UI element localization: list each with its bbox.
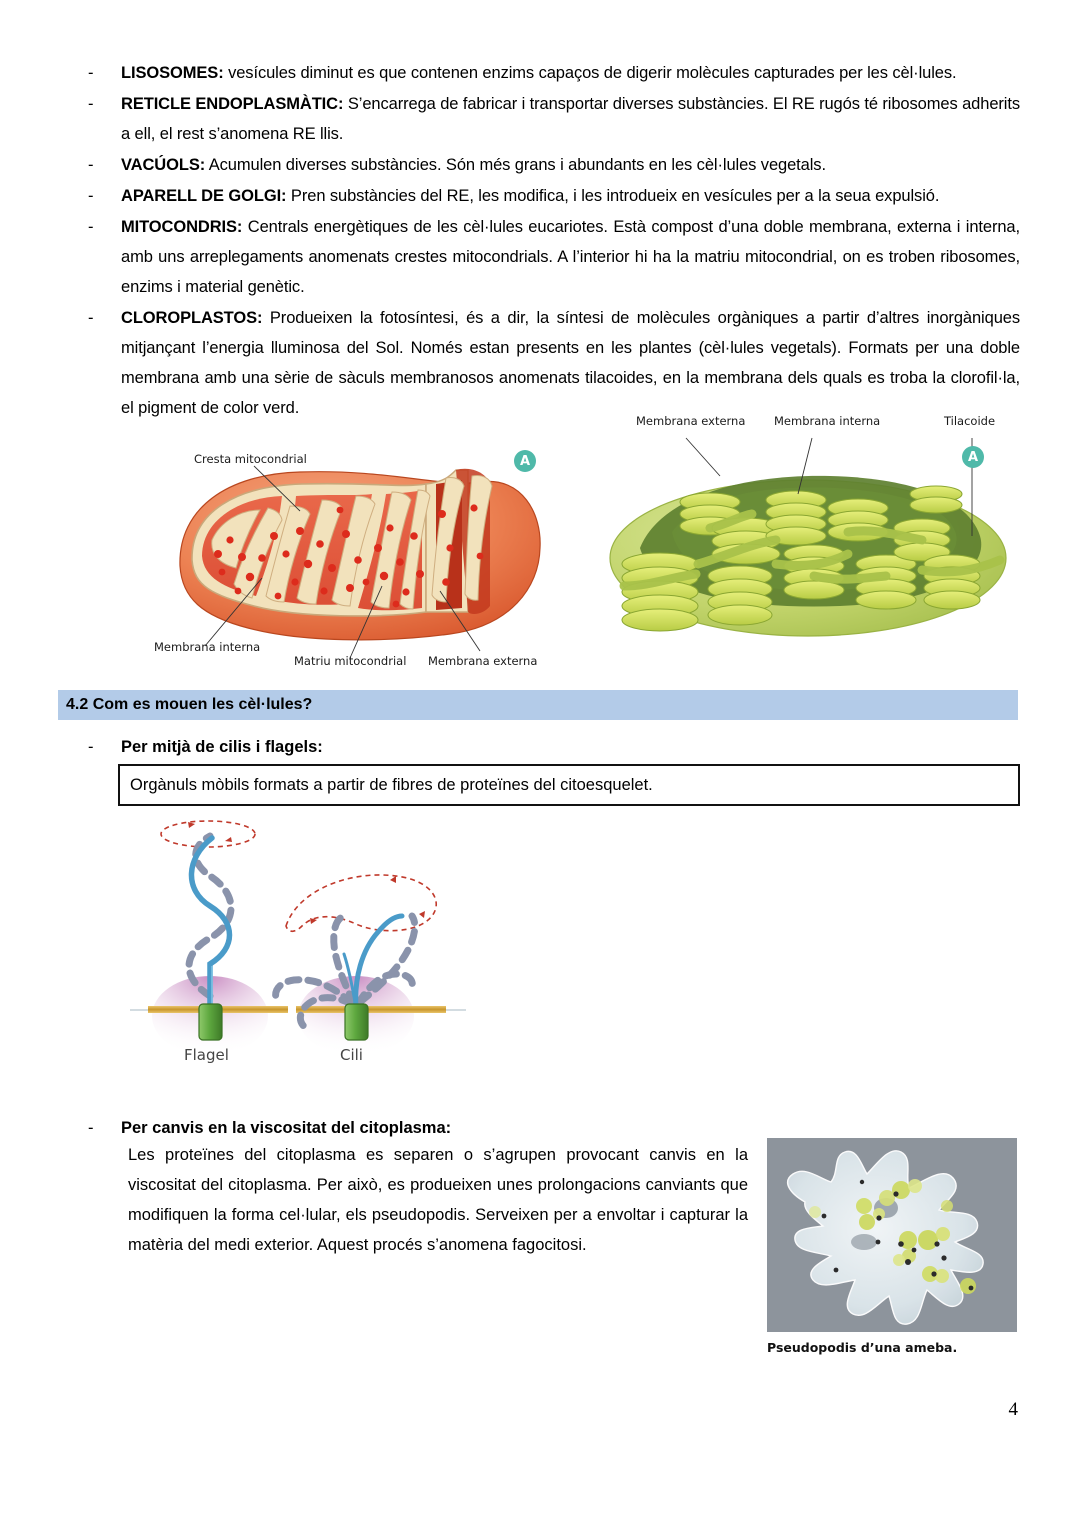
list-item: - MITOCONDRIS: Centrals energètiques de … — [88, 212, 1020, 302]
section-heading-text: 4.2 Com es mouen les cèl·lules? — [58, 696, 312, 714]
bullet-marker: - — [88, 733, 121, 761]
term-body: Acumulen diverses substàncies. Són més g… — [205, 156, 826, 174]
definition-box: Orgànuls mòbils formats a partir de fibr… — [118, 764, 1020, 806]
label-cili: Cili — [340, 1046, 363, 1064]
figure-badge-a: A — [962, 446, 984, 468]
bullet-marker: - — [88, 303, 121, 333]
bullet-marker: - — [88, 58, 121, 88]
term-label: APARELL DE GOLGI: — [121, 187, 286, 205]
label-tilacoide: Tilacoide — [944, 414, 995, 428]
list-item-text: APARELL DE GOLGI: Pren substàncies del R… — [121, 181, 1020, 211]
chloroplast-illustration — [600, 436, 1020, 656]
ameba-caption: Pseudopodis d’una ameba. — [767, 1340, 1017, 1355]
organelle-list: - LISOSOMES: vesícules diminut es que co… — [88, 58, 1020, 424]
subsection-cilia-heading: - Per mitjà de cilis i flagels: — [88, 733, 323, 761]
ameba-illustration — [767, 1138, 1017, 1332]
label-matriu-mitocondrial: Matriu mitocondrial — [294, 654, 406, 668]
organelle-figures: Cresta mitocondrial Membrana interna Mat… — [150, 436, 1020, 681]
list-item-text: LISOSOMES: vesícules diminut es que cont… — [121, 58, 1020, 88]
bullet-marker: - — [88, 89, 121, 119]
label-membrana-interna: Membrana interna — [154, 640, 260, 654]
list-item: - VACÚOLS: Acumulen diverses substàncies… — [88, 150, 1020, 180]
mitochondrion-figure: Cresta mitocondrial Membrana interna Mat… — [150, 436, 555, 681]
label-membrana-externa-chloro: Membrana externa — [636, 414, 745, 428]
definition-text: Orgànuls mòbils formats a partir de fibr… — [120, 776, 653, 795]
label-cresta-mitocondrial: Cresta mitocondrial — [194, 452, 307, 466]
term-label: VACÚOLS: — [121, 156, 205, 174]
term-label: RETICLE ENDOPLASMÀTIC: — [121, 95, 343, 113]
section-heading-bar: 4.2 Com es mouen les cèl·lules? — [58, 690, 1018, 720]
flagellum-cilium-illustration — [128, 818, 468, 1080]
label-membrana-externa: Membrana externa — [428, 654, 537, 668]
document-page: - LISOSOMES: vesícules diminut es que co… — [0, 0, 1080, 1527]
term-label: LISOSOMES: — [121, 64, 224, 82]
figure-badge-a: A — [514, 450, 536, 472]
term-label: CLOROPLASTOS: — [121, 309, 262, 327]
list-item-text: MITOCONDRIS: Centrals energètiques de le… — [121, 212, 1020, 302]
page-number: 4 — [1009, 1399, 1019, 1421]
list-item-text: CLOROPLASTOS: Produeixen la fotosíntesi,… — [121, 303, 1020, 423]
term-body: Pren substàncies del RE, les modifica, i… — [286, 187, 939, 205]
chloroplast-figure: Membrana externa Membrana interna Tilaco… — [600, 436, 1020, 656]
label-membrana-interna-chloro: Membrana interna — [774, 414, 880, 428]
bullet-marker: - — [88, 181, 121, 211]
label-flagel: Flagel — [184, 1046, 229, 1064]
list-item: - LISOSOMES: vesícules diminut es que co… — [88, 58, 1020, 88]
list-item: - CLOROPLASTOS: Produeixen la fotosíntes… — [88, 303, 1020, 423]
ameba-figure: Pseudopodis d’una ameba. — [767, 1138, 1017, 1355]
list-item: - APARELL DE GOLGI: Pren substàncies del… — [88, 181, 1020, 211]
subsection-viscosity-heading: - Per canvis en la viscositat del citopl… — [88, 1114, 451, 1142]
term-body: Centrals energètiques de les cèl·lules e… — [121, 218, 1020, 296]
term-label: MITOCONDRIS: — [121, 218, 242, 236]
flagellum-cilium-figure: Flagel Cili — [128, 818, 468, 1080]
bullet-marker: - — [88, 212, 121, 242]
ameba-photo — [767, 1138, 1017, 1332]
bullet-marker: - — [88, 150, 121, 180]
list-item-text: RETICLE ENDOPLASMÀTIC: S’encarrega de fa… — [121, 89, 1020, 149]
subsection-heading-text: Per mitjà de cilis i flagels: — [121, 733, 323, 761]
list-item: - RETICLE ENDOPLASMÀTIC: S’encarrega de … — [88, 89, 1020, 149]
list-item-text: VACÚOLS: Acumulen diverses substàncies. … — [121, 150, 1020, 180]
term-body: vesícules diminut es que contenen enzims… — [224, 64, 957, 82]
bullet-marker: - — [88, 1114, 121, 1142]
subsection-heading-text: Per canvis en la viscositat del citoplas… — [121, 1114, 451, 1142]
viscosity-paragraph: Les proteïnes del citoplasma es separen … — [128, 1140, 748, 1260]
